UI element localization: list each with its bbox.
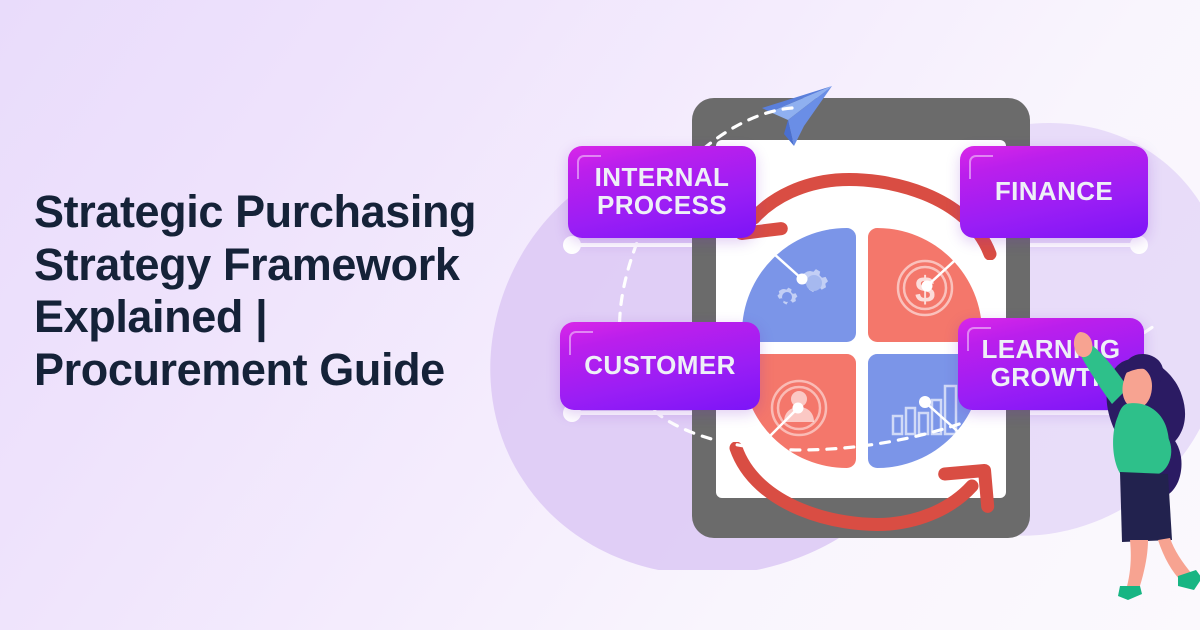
connector-dot-internal-process: [563, 236, 581, 254]
page-title: Strategic Purchasing Strategy Framework …: [34, 186, 554, 397]
badge-internal-process[interactable]: INTERNAL PROCESS: [568, 146, 756, 238]
user-target-icon: [760, 372, 838, 450]
dollar-coin-icon: $: [886, 246, 964, 324]
paper-plane-icon: [754, 82, 836, 152]
illustration-group: $: [520, 60, 1200, 570]
four-quadrant-pie: $: [742, 228, 982, 468]
quadrant-internal-process[interactable]: [742, 228, 856, 342]
badge-finance[interactable]: FINANCE: [960, 146, 1148, 238]
connector-dot-finance: [1130, 236, 1148, 254]
badge-customer[interactable]: CUSTOMER: [560, 322, 760, 410]
gears-icon: [762, 255, 836, 315]
bar-chart-icon: [885, 376, 965, 446]
promotional-banner: Strategic Purchasing Strategy Framework …: [0, 0, 1200, 630]
woman-pointing-figure: [1070, 328, 1200, 600]
title-block: Strategic Purchasing Strategy Framework …: [34, 186, 554, 397]
